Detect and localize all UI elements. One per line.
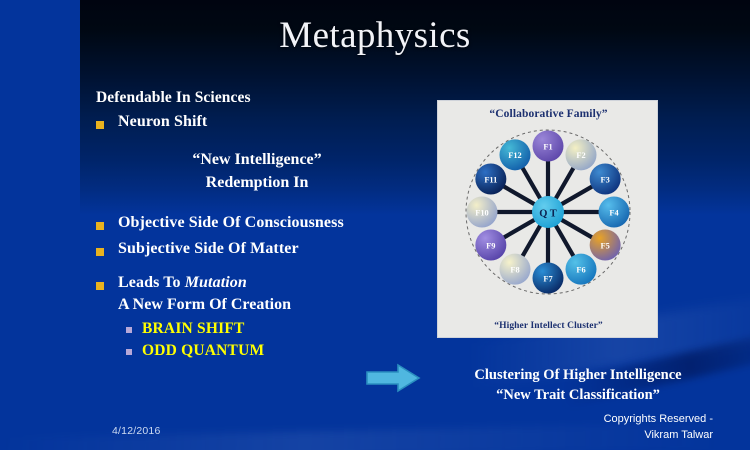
node-label: F3 — [601, 175, 610, 184]
bullet-item-objective-side: Objective Side Of Consciousness — [96, 214, 436, 232]
body-heading: Defendable In Sciences — [96, 89, 436, 107]
node-f6: F6 — [566, 254, 597, 285]
sub-bullet-label: BRAIN SHIFT — [142, 320, 245, 338]
node-f8: F8 — [500, 254, 531, 285]
node-f3: F3 — [590, 164, 621, 195]
node-label: F8 — [510, 266, 519, 275]
spacer — [96, 258, 436, 274]
node-label: F9 — [486, 241, 495, 250]
square-bullet-icon — [96, 282, 104, 290]
right-arrow-icon — [365, 363, 421, 393]
sub-bullet-label: ODD QUANTUM — [142, 342, 264, 360]
small-square-bullet-icon — [126, 349, 132, 355]
line-new-form-of-creation: A New Form Of Creation — [118, 296, 436, 314]
copyright-notice: Copyrights Reserved - Vikram Talwar — [438, 412, 713, 444]
copyright-line-1: Copyrights Reserved - — [438, 412, 713, 428]
bullet-label: Subjective Side Of Matter — [118, 240, 299, 258]
node-f2: F2 — [566, 139, 597, 170]
square-bullet-icon — [96, 222, 104, 230]
sub-bullet-item-odd-quantum: ODD QUANTUM — [126, 342, 436, 360]
node-label: F1 — [543, 142, 552, 151]
spacer — [96, 131, 436, 149]
center-line-2: Redemption In — [102, 172, 412, 195]
caption-line-2: “New Trait Classification” — [428, 385, 728, 405]
small-square-bullet-icon — [126, 327, 132, 333]
caption-line-1: Clustering Of Higher Intelligence — [428, 365, 728, 385]
copyright-line-2: Vikram Talwar — [438, 428, 713, 444]
square-bullet-icon — [96, 121, 104, 129]
node-f5: F5 — [590, 230, 621, 261]
node-f7: F7 — [533, 263, 564, 294]
spacer — [96, 194, 436, 214]
node-f1: F1 — [533, 131, 564, 162]
diagram-footer: “Higher Intellect Cluster” — [438, 321, 659, 331]
presentation-slide: Metaphysics Defendable In Sciences Neuro… — [0, 0, 750, 450]
node-f9: F9 — [475, 230, 506, 261]
node-label: F10 — [475, 208, 489, 217]
hub-node: Q T — [532, 196, 564, 228]
center-phrase-block: “New Intelligence” Redemption In — [102, 149, 412, 194]
node-label: F2 — [576, 151, 585, 160]
node-f4: F4 — [599, 197, 630, 228]
bullet-item-leads-to-mutation: Leads To Mutation — [96, 274, 436, 292]
bullet-label: Leads To Mutation — [118, 274, 247, 292]
node-label: F4 — [609, 208, 619, 217]
mutation-emphasis: Mutation — [185, 274, 247, 291]
hub-label: Q T — [539, 209, 557, 220]
bullet-label: Neuron Shift — [118, 113, 207, 131]
bullet-item-subjective-side: Subjective Side Of Matter — [96, 240, 436, 258]
square-bullet-icon — [96, 248, 104, 256]
node-label: F7 — [543, 274, 552, 283]
right-caption-block: Clustering Of Higher Intelligence “New T… — [428, 365, 728, 405]
node-f10: F10 — [467, 197, 498, 228]
bullet-label: Objective Side Of Consciousness — [118, 214, 344, 232]
slide-body-left: Defendable In Sciences Neuron Shift “New… — [96, 89, 436, 360]
node-f12: F12 — [500, 139, 531, 170]
center-line-1: “New Intelligence” — [102, 149, 412, 172]
node-label: F6 — [576, 266, 585, 275]
leads-to-prefix: Leads To — [118, 274, 185, 291]
node-label: F11 — [484, 175, 497, 184]
bullet-item-neuron-shift: Neuron Shift — [96, 113, 436, 131]
node-label: F5 — [601, 241, 610, 250]
node-label: F12 — [508, 151, 522, 160]
sub-bullet-item-brain-shift: BRAIN SHIFT — [126, 320, 436, 338]
node-f11: F11 — [475, 164, 506, 195]
hub-and-spoke-diagram: F1F2F3F4F5F6F7F8F9F10F11F12 Q T — [438, 117, 659, 317]
collaborative-family-diagram-panel: “Collaborative Family” F1F2F3F4F5F6F7F8F… — [437, 100, 658, 338]
slide-date: 4/12/2016 — [112, 425, 161, 437]
slide-title: Metaphysics — [0, 14, 750, 57]
